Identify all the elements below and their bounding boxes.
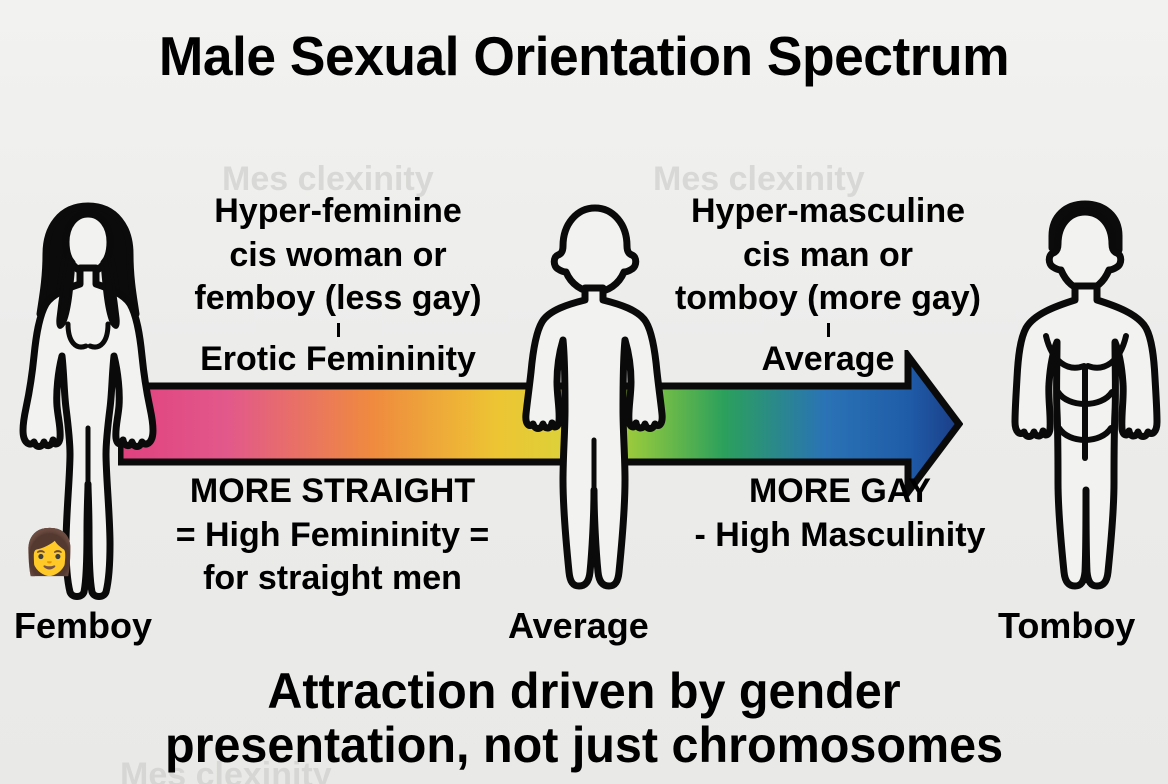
top-left-descriptor: Hyper-feminine cis woman or femboy (less… (158, 190, 518, 381)
woman-emoji-icon: 👩 (22, 531, 77, 575)
top-right-tick-icon (827, 323, 830, 337)
bottom-left-descriptor: MORE STRAIGHT = High Femininity = for st… (145, 470, 520, 601)
bottom-caption-line-2: presentation, not just chromosomes (18, 718, 1151, 772)
top-right-line-1: Hyper-masculine (648, 190, 1008, 234)
meme-image-canvas: Mes clexinity Mes clexinity Mes clexinit… (0, 0, 1168, 784)
top-left-anchor-label: Erotic Femininity (158, 338, 518, 382)
bottom-left-line-1: MORE STRAIGHT (145, 470, 520, 514)
figure-caption-femboy: Femboy (14, 605, 152, 647)
top-left-line-3: femboy (less gay) (158, 277, 518, 321)
bottom-caption-line-1: Attraction driven by gender (18, 664, 1151, 718)
top-left-line-1: Hyper-feminine (158, 190, 518, 234)
top-right-anchor-label: Average (648, 338, 1008, 382)
top-right-line-2: cis man or (648, 234, 1008, 278)
top-right-line-3: tomboy (more gay) (648, 277, 1008, 321)
figure-caption-tomboy: Tomboy (998, 605, 1135, 647)
top-left-line-2: cis woman or (158, 234, 518, 278)
top-right-descriptor: Hyper-masculine cis man or tomboy (more … (648, 190, 1008, 381)
bottom-right-line-2: - High Masculinity (655, 514, 1025, 558)
bottom-right-line-1: MORE GAY (655, 470, 1025, 514)
muscular-male-silhouette-icon (1008, 196, 1163, 601)
page-title: Male Sexual Orientation Spectrum (18, 28, 1151, 86)
bottom-caption: Attraction driven by gender presentation… (18, 664, 1151, 772)
top-left-tick-icon (337, 323, 340, 337)
bottom-right-descriptor: MORE GAY - High Masculinity (655, 470, 1025, 557)
bottom-left-line-2: = High Femininity = (145, 514, 520, 558)
figure-caption-average: Average (508, 605, 649, 647)
bottom-left-line-3: for straight men (145, 557, 520, 601)
